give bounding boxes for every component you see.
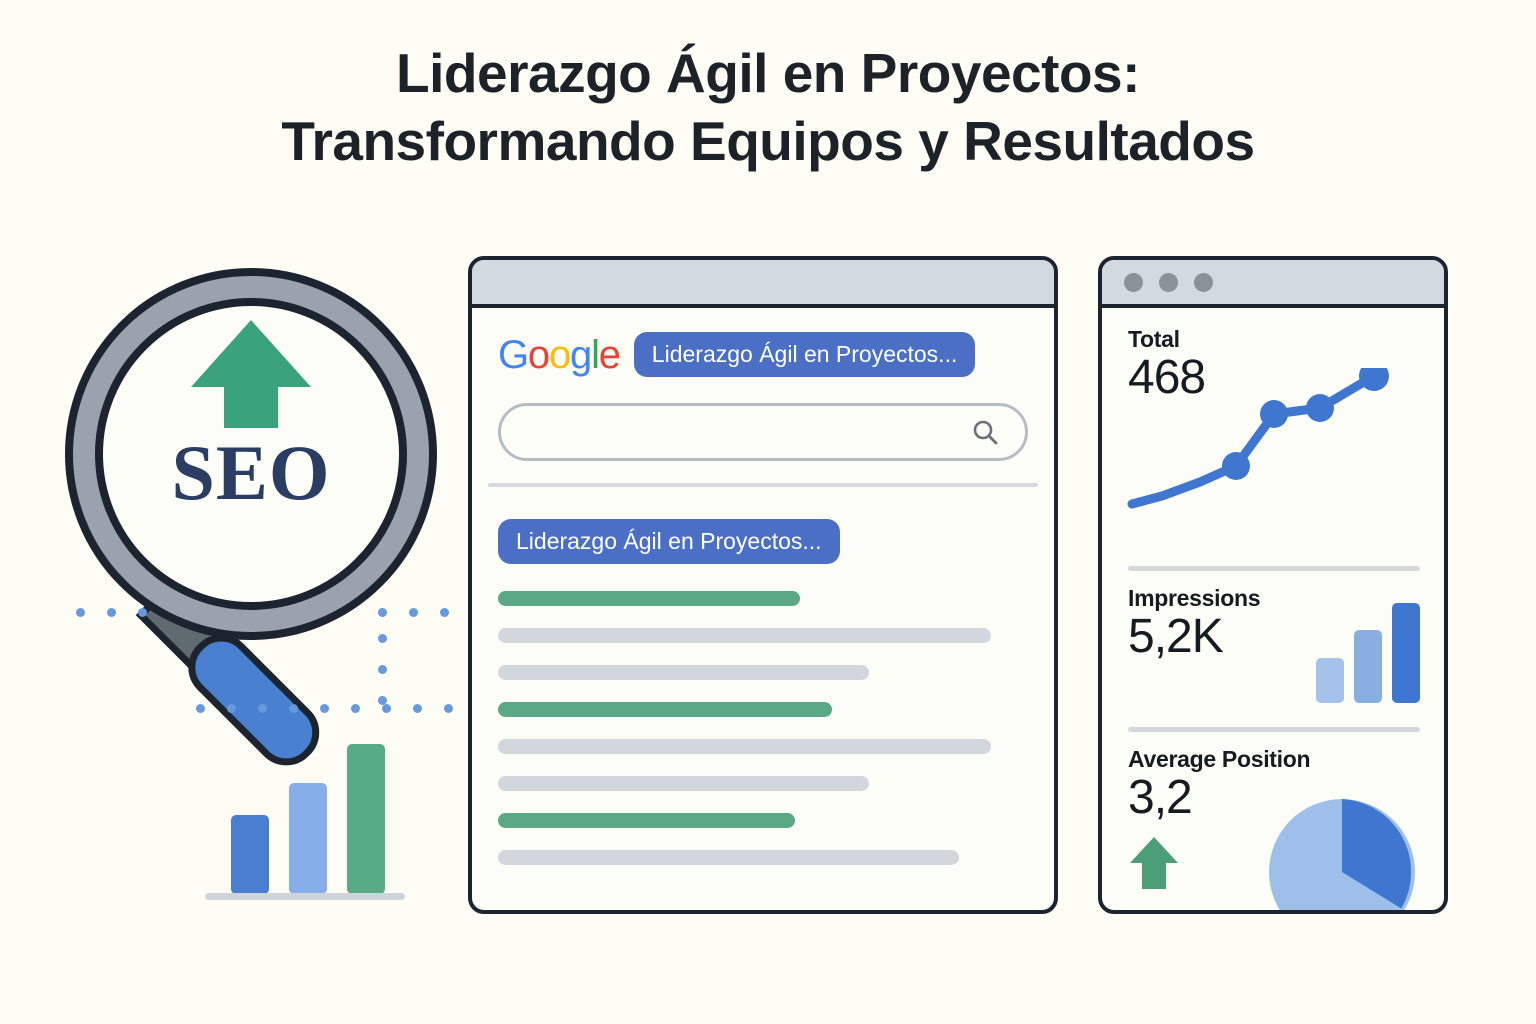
result-line-gray <box>498 776 869 791</box>
metric-total-label: Total <box>1128 326 1424 353</box>
result-block <box>498 813 1028 865</box>
mini-bar-2 <box>289 783 327 894</box>
connector-dots-top-left <box>76 608 147 617</box>
google-logo: Google <box>498 335 620 375</box>
page-title-line-1: Liderazgo Ágil en Proyectos: <box>0 44 1536 102</box>
pie-chart-svg <box>1266 796 1418 914</box>
serp-divider <box>488 483 1038 487</box>
window-dot-maximize-icon[interactable] <box>1194 273 1213 292</box>
connector-dots-bottom <box>196 704 453 713</box>
connector-dots-vertical <box>378 634 387 705</box>
window-dot-close-icon[interactable] <box>1124 273 1143 292</box>
analytics-divider-2 <box>1128 727 1420 732</box>
result-block <box>498 591 1028 680</box>
connector-dot <box>440 608 449 617</box>
metric-average-position: Average Position 3,2 <box>1128 746 1424 914</box>
connector-dot <box>258 704 267 713</box>
serp-result-placeholder-lines <box>498 591 1028 865</box>
result-line-gray <box>498 739 991 754</box>
page-title: Liderazgo Ágil en Proyectos: Transforman… <box>0 44 1536 171</box>
connector-dots-right <box>378 608 480 617</box>
magnifier-icon <box>62 246 462 806</box>
page-title-line-2: Transformando Equipos y Resultados <box>0 112 1536 170</box>
serp-card-body: Google Liderazgo Ágil en Proyectos... Li… <box>472 308 1054 910</box>
connector-dot <box>413 704 422 713</box>
average-position-pie-chart <box>1266 796 1418 914</box>
connector-dot <box>196 704 205 713</box>
connector-dot <box>138 608 147 617</box>
impressions-bar-1 <box>1316 658 1344 703</box>
seo-magnifier-illustration: SEO <box>62 246 462 806</box>
result-line-green <box>498 591 800 606</box>
analytics-card-body: Total 468 Impressions 5,2K <box>1102 308 1444 910</box>
google-serp-browser-card[interactable]: Google Liderazgo Ágil en Proyectos... Li… <box>468 256 1058 914</box>
metric-impressions: Impressions 5,2K <box>1128 585 1424 713</box>
impressions-bar-2 <box>1354 630 1382 703</box>
connector-dot <box>382 704 391 713</box>
seo-label: SEO <box>62 428 440 518</box>
analytics-card-titlebar <box>1102 260 1444 308</box>
line-chart-point <box>1222 452 1250 480</box>
impressions-bar-3 <box>1392 603 1420 703</box>
analytics-browser-card[interactable]: Total 468 Impressions 5,2K <box>1098 256 1448 914</box>
total-line-chart <box>1124 368 1424 523</box>
connector-dot <box>444 704 453 713</box>
metric-total: Total 468 <box>1128 326 1424 552</box>
result-line-gray <box>498 850 959 865</box>
mini-bar-chart-bars <box>231 744 385 894</box>
serp-top-row: Google Liderazgo Ágil en Proyectos... <box>498 332 1028 377</box>
search-icon <box>971 418 999 446</box>
window-dot-minimize-icon[interactable] <box>1159 273 1178 292</box>
serp-card-titlebar <box>472 260 1054 308</box>
connector-dot <box>378 608 387 617</box>
connector-dot <box>409 608 418 617</box>
result-block <box>498 702 1028 791</box>
result-line-green <box>498 813 795 828</box>
line-chart-point <box>1260 400 1288 428</box>
line-chart-svg <box>1124 368 1424 518</box>
result-line-gray <box>498 628 991 643</box>
connector-dot <box>289 704 298 713</box>
mini-bar-3 <box>347 744 385 894</box>
mini-bar-1 <box>231 815 269 895</box>
analytics-divider-1 <box>1128 566 1420 571</box>
connector-dot <box>320 704 329 713</box>
mini-bar-chart-baseline <box>205 893 405 900</box>
mini-bar-chart <box>205 735 425 905</box>
result-title-pill[interactable]: Liderazgo Ágil en Proyectos... <box>498 519 840 564</box>
line-chart-point <box>1359 368 1389 391</box>
connector-dot <box>76 608 85 617</box>
line-chart-point <box>1306 394 1334 422</box>
connector-dot <box>351 704 360 713</box>
search-input[interactable] <box>498 403 1028 461</box>
connector-dot <box>378 634 387 643</box>
connector-dot <box>378 696 387 705</box>
query-pill[interactable]: Liderazgo Ágil en Proyectos... <box>634 332 976 377</box>
result-line-green <box>498 702 832 717</box>
connector-dot <box>227 704 236 713</box>
metric-average-position-label: Average Position <box>1128 746 1424 773</box>
connector-dot <box>107 608 116 617</box>
impressions-bar-chart <box>1316 603 1420 703</box>
connector-dot <box>378 665 387 674</box>
up-arrow-icon <box>1128 833 1180 893</box>
result-line-gray <box>498 665 869 680</box>
